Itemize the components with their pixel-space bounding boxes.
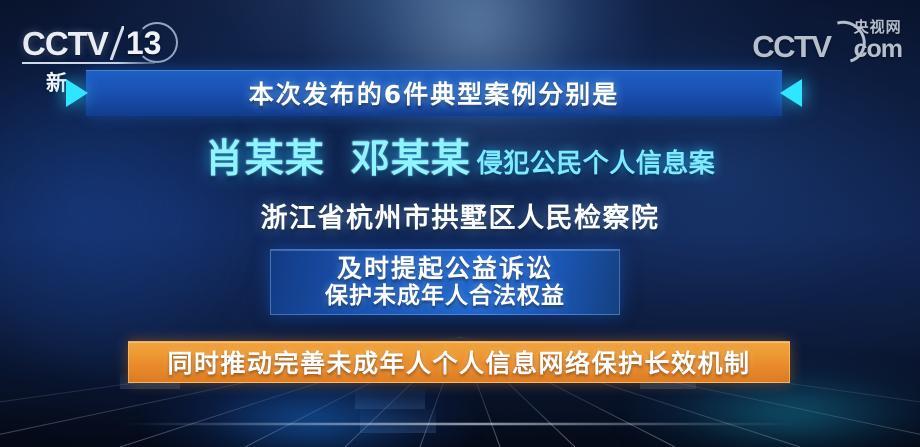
- cctv-wordmark: CCTV: [22, 27, 108, 60]
- floor-horizon-line: [120, 423, 800, 425]
- blue-callout-box: 及时提起公益诉讼 保护未成年人合法权益: [270, 249, 620, 315]
- cctv13-slash-icon: [110, 26, 124, 60]
- cctv-com-cn-label: 央视网: [854, 20, 902, 36]
- cctv13-ring-icon: [136, 22, 178, 63]
- case-party-one: 肖某某: [205, 128, 325, 184]
- headline-text: 本次发布的6件典型案例分别是: [86, 75, 782, 111]
- case-title-line: 肖某某 邓某某 侵犯公民个人信息案: [0, 128, 920, 184]
- channel-number-text: 13: [126, 25, 162, 61]
- cctv13-underline: [22, 62, 155, 64]
- cctv13-logo-row: CCTV 13: [22, 26, 164, 60]
- orange-callout-box: 同时推动完善未成年人个人信息网络保护长效机制: [128, 341, 790, 383]
- broadcast-frame: CCTV 13 新 闻 CCTV 央视网 com 本次发布的6件典型案例分别是 …: [0, 0, 920, 447]
- headline-banner: 本次发布的6件典型案例分别是: [66, 70, 802, 116]
- headline-banner-bar: 本次发布的6件典型案例分别是: [86, 70, 782, 116]
- triangle-left-icon: [780, 79, 802, 107]
- blue-callout-line-1: 及时提起公益诉讼: [337, 254, 553, 283]
- cctv-com-domain: com: [854, 37, 902, 62]
- triangle-right-icon: [66, 79, 88, 107]
- cctv-com-arc-icon: [828, 28, 858, 62]
- case-charge: 侵犯公民个人信息案: [477, 143, 716, 180]
- channel-number: 13: [125, 27, 165, 59]
- cctv-com-wordmark: CCTV: [752, 31, 830, 62]
- orange-callout-text: 同时推动完善未成年人个人信息网络保护长效机制: [167, 344, 750, 380]
- case-party-two: 邓某某: [351, 128, 471, 184]
- case-authority: 浙江省杭州市拱墅区人民检察院: [0, 196, 920, 235]
- blue-callout-line-2: 保护未成年人合法权益: [325, 283, 565, 311]
- cctv-com-logo: CCTV 央视网 com: [752, 20, 902, 62]
- cctv-com-right-stack: 央视网 com: [854, 20, 902, 62]
